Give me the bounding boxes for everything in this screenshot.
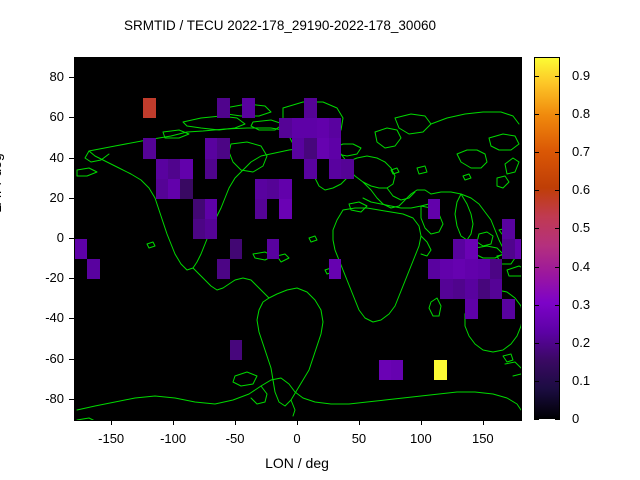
y-axis-tick-label: -60 [4, 351, 64, 366]
heatmap-cell [217, 138, 229, 158]
heatmap-cell [267, 239, 279, 259]
heatmap-cell [193, 219, 205, 239]
x-axis-tick-label: 0 [267, 431, 327, 446]
y-axis-tick-label: 20 [4, 190, 64, 205]
heatmap-cell [156, 179, 168, 199]
colorbar-tick [534, 190, 539, 191]
heatmap-cell [317, 118, 329, 138]
colorbar-tick-label: 0 [572, 411, 579, 426]
colorbar-tick-label: 0.5 [572, 220, 590, 235]
y-axis-tick [69, 117, 74, 118]
colorbar-tick [555, 114, 560, 115]
y-axis-tick-label: -80 [4, 391, 64, 406]
heatmap-cell [279, 179, 291, 199]
heatmap-cell [143, 138, 155, 158]
heatmap-cell [242, 98, 254, 118]
heatmap-cell [465, 299, 477, 319]
heatmap-cell [329, 259, 341, 279]
heatmap-cell [304, 159, 316, 179]
colorbar-tick-label: 0.1 [572, 373, 590, 388]
heatmap-cell [205, 199, 217, 219]
heatmap-cell [180, 159, 192, 179]
heatmap-cell [453, 279, 465, 299]
heatmap-cell [465, 279, 477, 299]
y-axis-tick [69, 399, 74, 400]
colorbar-tick [555, 305, 560, 306]
heatmap-cell [292, 118, 304, 138]
y-axis-tick [69, 359, 74, 360]
y-axis-tick-label: 80 [4, 69, 64, 84]
heatmap-cell [205, 159, 217, 179]
heatmap-cell [75, 239, 87, 259]
x-axis-tick [235, 420, 236, 425]
y-axis-tick-label: -20 [4, 270, 64, 285]
y-axis-tick-label: 0 [4, 230, 64, 245]
heatmap-cell [515, 239, 522, 259]
y-axis-tick [69, 77, 74, 78]
y-axis-tick [69, 238, 74, 239]
colorbar-tick-label: 0.9 [572, 68, 590, 83]
heatmap-cell [180, 179, 192, 199]
heatmap-cell [329, 159, 341, 179]
colorbar-tick-label: 0.7 [572, 144, 590, 159]
x-axis-tick [483, 420, 484, 425]
heatmap-cell [379, 360, 391, 380]
heatmap-plot-area [74, 57, 522, 421]
heatmap-cell [453, 239, 465, 259]
heatmap-cell [255, 179, 267, 199]
colorbar-tick-label: 0.8 [572, 106, 590, 121]
heatmap-cell [502, 299, 514, 319]
colorbar-tick [555, 152, 560, 153]
y-axis-tick-label: 60 [4, 109, 64, 124]
heatmap-cell [193, 199, 205, 219]
heatmap-cell [502, 239, 514, 259]
colorbar-tick-label: 0.6 [572, 182, 590, 197]
x-axis-label: LON / deg [74, 455, 520, 471]
x-axis-tick-label: 50 [329, 431, 389, 446]
colorbar-tick [555, 267, 560, 268]
heatmap-cell [428, 199, 440, 219]
colorbar-tick [555, 419, 560, 420]
heatmap-cell [329, 138, 341, 158]
colorbar-tick-label: 0.4 [572, 259, 590, 274]
heatmap-cell [317, 138, 329, 158]
heatmap-cell [168, 179, 180, 199]
heatmap-cell [502, 219, 514, 239]
colorbar-tick [555, 76, 560, 77]
x-axis-tick [359, 420, 360, 425]
colorbar-tick [534, 381, 539, 382]
heatmap-cell [156, 159, 168, 179]
colorbar-tick [534, 305, 539, 306]
y-axis-tick-label: -40 [4, 310, 64, 325]
y-axis-tick [69, 198, 74, 199]
heatmap-cell [217, 98, 229, 118]
heatmap-cell [143, 98, 155, 118]
y-axis-tick-label: 40 [4, 150, 64, 165]
heatmap-cell [205, 219, 217, 239]
heatmap-cell [478, 279, 490, 299]
colorbar-tick [555, 381, 560, 382]
colorbar-tick [534, 343, 539, 344]
x-axis-tick [173, 420, 174, 425]
x-axis-tick-label: -150 [81, 431, 141, 446]
x-axis-tick-label: -50 [205, 431, 265, 446]
heatmap-cell [453, 259, 465, 279]
x-axis-tick-label: 150 [453, 431, 513, 446]
heatmap-cell [168, 159, 180, 179]
heatmap-cell [217, 259, 229, 279]
colorbar-tick [534, 152, 539, 153]
colorbar-tick [555, 343, 560, 344]
heatmap-cell [279, 199, 291, 219]
colorbar-gradient [534, 57, 560, 419]
colorbar-tick [534, 419, 539, 420]
heatmap-cell [279, 118, 291, 138]
x-axis-tick [111, 420, 112, 425]
colorbar-tick [555, 228, 560, 229]
heatmap-cell [478, 259, 490, 279]
heatmap-cell [230, 340, 242, 360]
heatmap-cell [440, 279, 452, 299]
heatmap-cell [465, 259, 477, 279]
heatmap-cell [205, 138, 217, 158]
heatmap-cell-layer [75, 58, 521, 420]
heatmap-cell [304, 98, 316, 118]
heatmap-cell [329, 118, 341, 138]
heatmap-cell [267, 179, 279, 199]
colorbar [534, 57, 560, 419]
page-title: SRMTID / TECU 2022-178_29190-2022-178_30… [0, 18, 560, 33]
heatmap-cell [434, 360, 446, 380]
colorbar-tick-label: 0.2 [572, 335, 590, 350]
colorbar-tick [555, 190, 560, 191]
y-axis-label: LAT / deg [0, 153, 4, 212]
heatmap-cell [341, 159, 353, 179]
heatmap-cell [230, 239, 242, 259]
heatmap-cell [87, 259, 99, 279]
colorbar-tick [534, 228, 539, 229]
heatmap-cell [465, 239, 477, 259]
heatmap-cell [490, 259, 502, 279]
heatmap-cell [490, 279, 502, 299]
heatmap-cell [304, 138, 316, 158]
figure-root: SRMTID / TECU 2022-178_29190-2022-178_30… [0, 0, 640, 480]
heatmap-cell [255, 199, 267, 219]
heatmap-cell [440, 259, 452, 279]
colorbar-tick [534, 267, 539, 268]
colorbar-tick [534, 114, 539, 115]
plot-inner [75, 58, 521, 420]
heatmap-cell [391, 360, 403, 380]
x-axis-tick [421, 420, 422, 425]
heatmap-cell [304, 118, 316, 138]
heatmap-cell [292, 138, 304, 158]
heatmap-cell [428, 259, 440, 279]
x-axis-tick [297, 420, 298, 425]
x-axis-tick-label: 100 [391, 431, 451, 446]
y-axis-tick [69, 278, 74, 279]
y-axis-tick [69, 158, 74, 159]
x-axis-tick-label: -100 [143, 431, 203, 446]
colorbar-tick [534, 76, 539, 77]
colorbar-tick-label: 0.3 [572, 297, 590, 312]
y-axis-tick [69, 318, 74, 319]
